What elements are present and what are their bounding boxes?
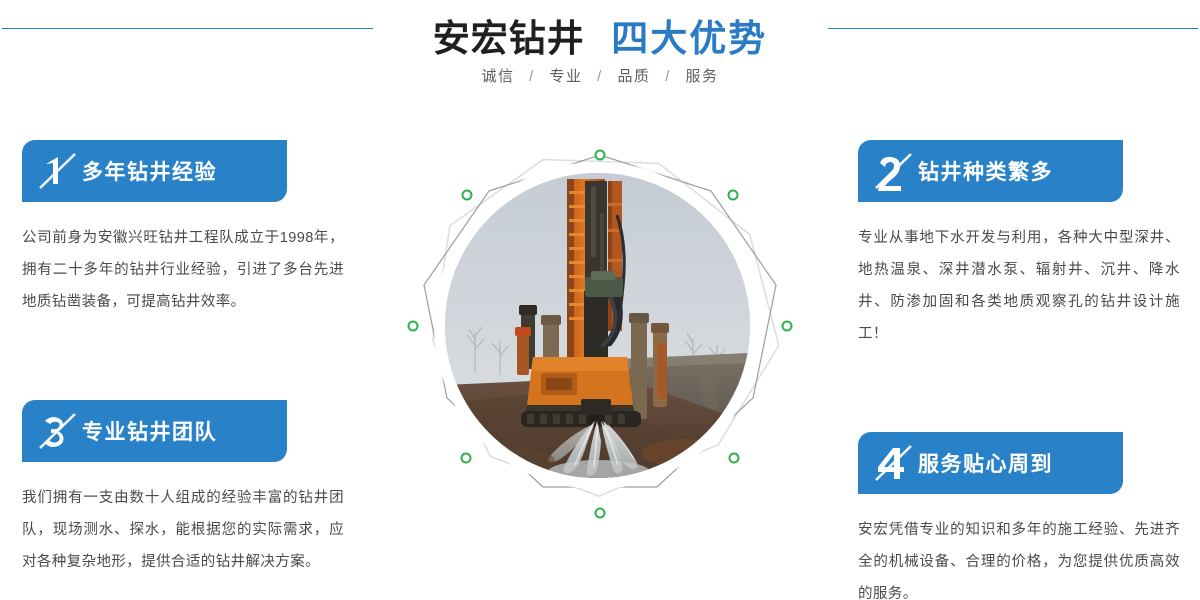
center-graphic <box>390 115 810 535</box>
number-four-icon <box>870 440 916 486</box>
feature-badge-2[interactable]: 钻井种类繁多 <box>858 140 1123 202</box>
feature-badge-4[interactable]: 服务贴心周到 <box>858 432 1123 494</box>
vertex-dot-left <box>409 322 418 331</box>
feature-description-1: 公司前身为安徽兴旺钻井工程队成立于1998年，拥有二十多年的钻井行业经验，引进了… <box>22 222 344 318</box>
feature-badge-1[interactable]: 多年钻井经验 <box>22 140 287 202</box>
subtitle-separator-0: / <box>529 68 535 85</box>
vertex-dot-bottom <box>596 509 605 518</box>
features-column-left: 多年钻井经验 公司前身为安徽兴旺钻井工程队成立于1998年，拥有二十多年的钻井行… <box>22 140 362 578</box>
feature-card-3: 专业钻井团队 我们拥有一支由数十人组成的经验丰富的钻井团队，现场测水、探水，能根… <box>22 400 362 578</box>
vertex-dot-right <box>783 322 792 331</box>
subtitle-item-2: 品质 <box>618 68 651 85</box>
feature-title-1: 多年钻井经验 <box>82 156 217 186</box>
feature-title-4: 服务贴心周到 <box>918 448 1053 478</box>
subtitle-item-1: 专业 <box>549 68 582 85</box>
subtitle-separator-2: / <box>665 68 671 85</box>
subtitle-separator-1: / <box>597 68 603 85</box>
title-company-name: 安宏钻井 <box>433 18 585 59</box>
feature-title-2: 钻井种类繁多 <box>918 156 1053 186</box>
number-one-icon <box>34 148 80 194</box>
subtitle-item-0: 诚信 <box>481 68 514 85</box>
number-three-icon <box>34 408 80 454</box>
title-highlight: 四大优势 <box>611 18 767 59</box>
feature-card-4: 服务贴心周到 安宏凭借专业的知识和多年的施工经验、先进齐全的机械设备、合理的价格… <box>858 432 1198 600</box>
features-column-right: 钻井种类繁多 专业从事地下水开发与利用，各种大中型深井、地热温泉、深井潜水泵、辐… <box>858 140 1198 600</box>
feature-card-1: 多年钻井经验 公司前身为安徽兴旺钻井工程队成立于1998年，拥有二十多年的钻井行… <box>22 140 362 318</box>
feature-title-3: 专业钻井团队 <box>82 416 217 446</box>
page-title: 安宏钻井 四大优势 <box>0 8 1200 62</box>
number-two-icon <box>870 148 916 194</box>
vertex-dot-top <box>596 151 605 160</box>
advantages-section: 安宏钻井 四大优势 诚信 / 专业 / 品质 / 服务 多年钻井经验 <box>0 0 1200 600</box>
feature-card-2: 钻井种类繁多 专业从事地下水开发与利用，各种大中型深井、地热温泉、深井潜水泵、辐… <box>858 140 1198 350</box>
section-header: 安宏钻井 四大优势 诚信 / 专业 / 品质 / 服务 <box>0 0 1200 108</box>
feature-description-2: 专业从事地下水开发与利用，各种大中型深井、地热温泉、深井潜水泵、辐射井、沉井、降… <box>858 222 1180 350</box>
subtitle-tagline: 诚信 / 专业 / 品质 / 服务 <box>0 65 1200 86</box>
drilling-rig-photo <box>445 173 750 478</box>
feature-description-3: 我们拥有一支由数十人组成的经验丰富的钻井团队，现场测水、探水，能根据您的实际需求… <box>22 482 344 578</box>
feature-description-4: 安宏凭借专业的知识和多年的施工经验、先进齐全的机械设备、合理的价格，为您提供优质… <box>858 514 1180 600</box>
feature-badge-3[interactable]: 专业钻井团队 <box>22 400 287 462</box>
subtitle-item-3: 服务 <box>686 68 719 85</box>
